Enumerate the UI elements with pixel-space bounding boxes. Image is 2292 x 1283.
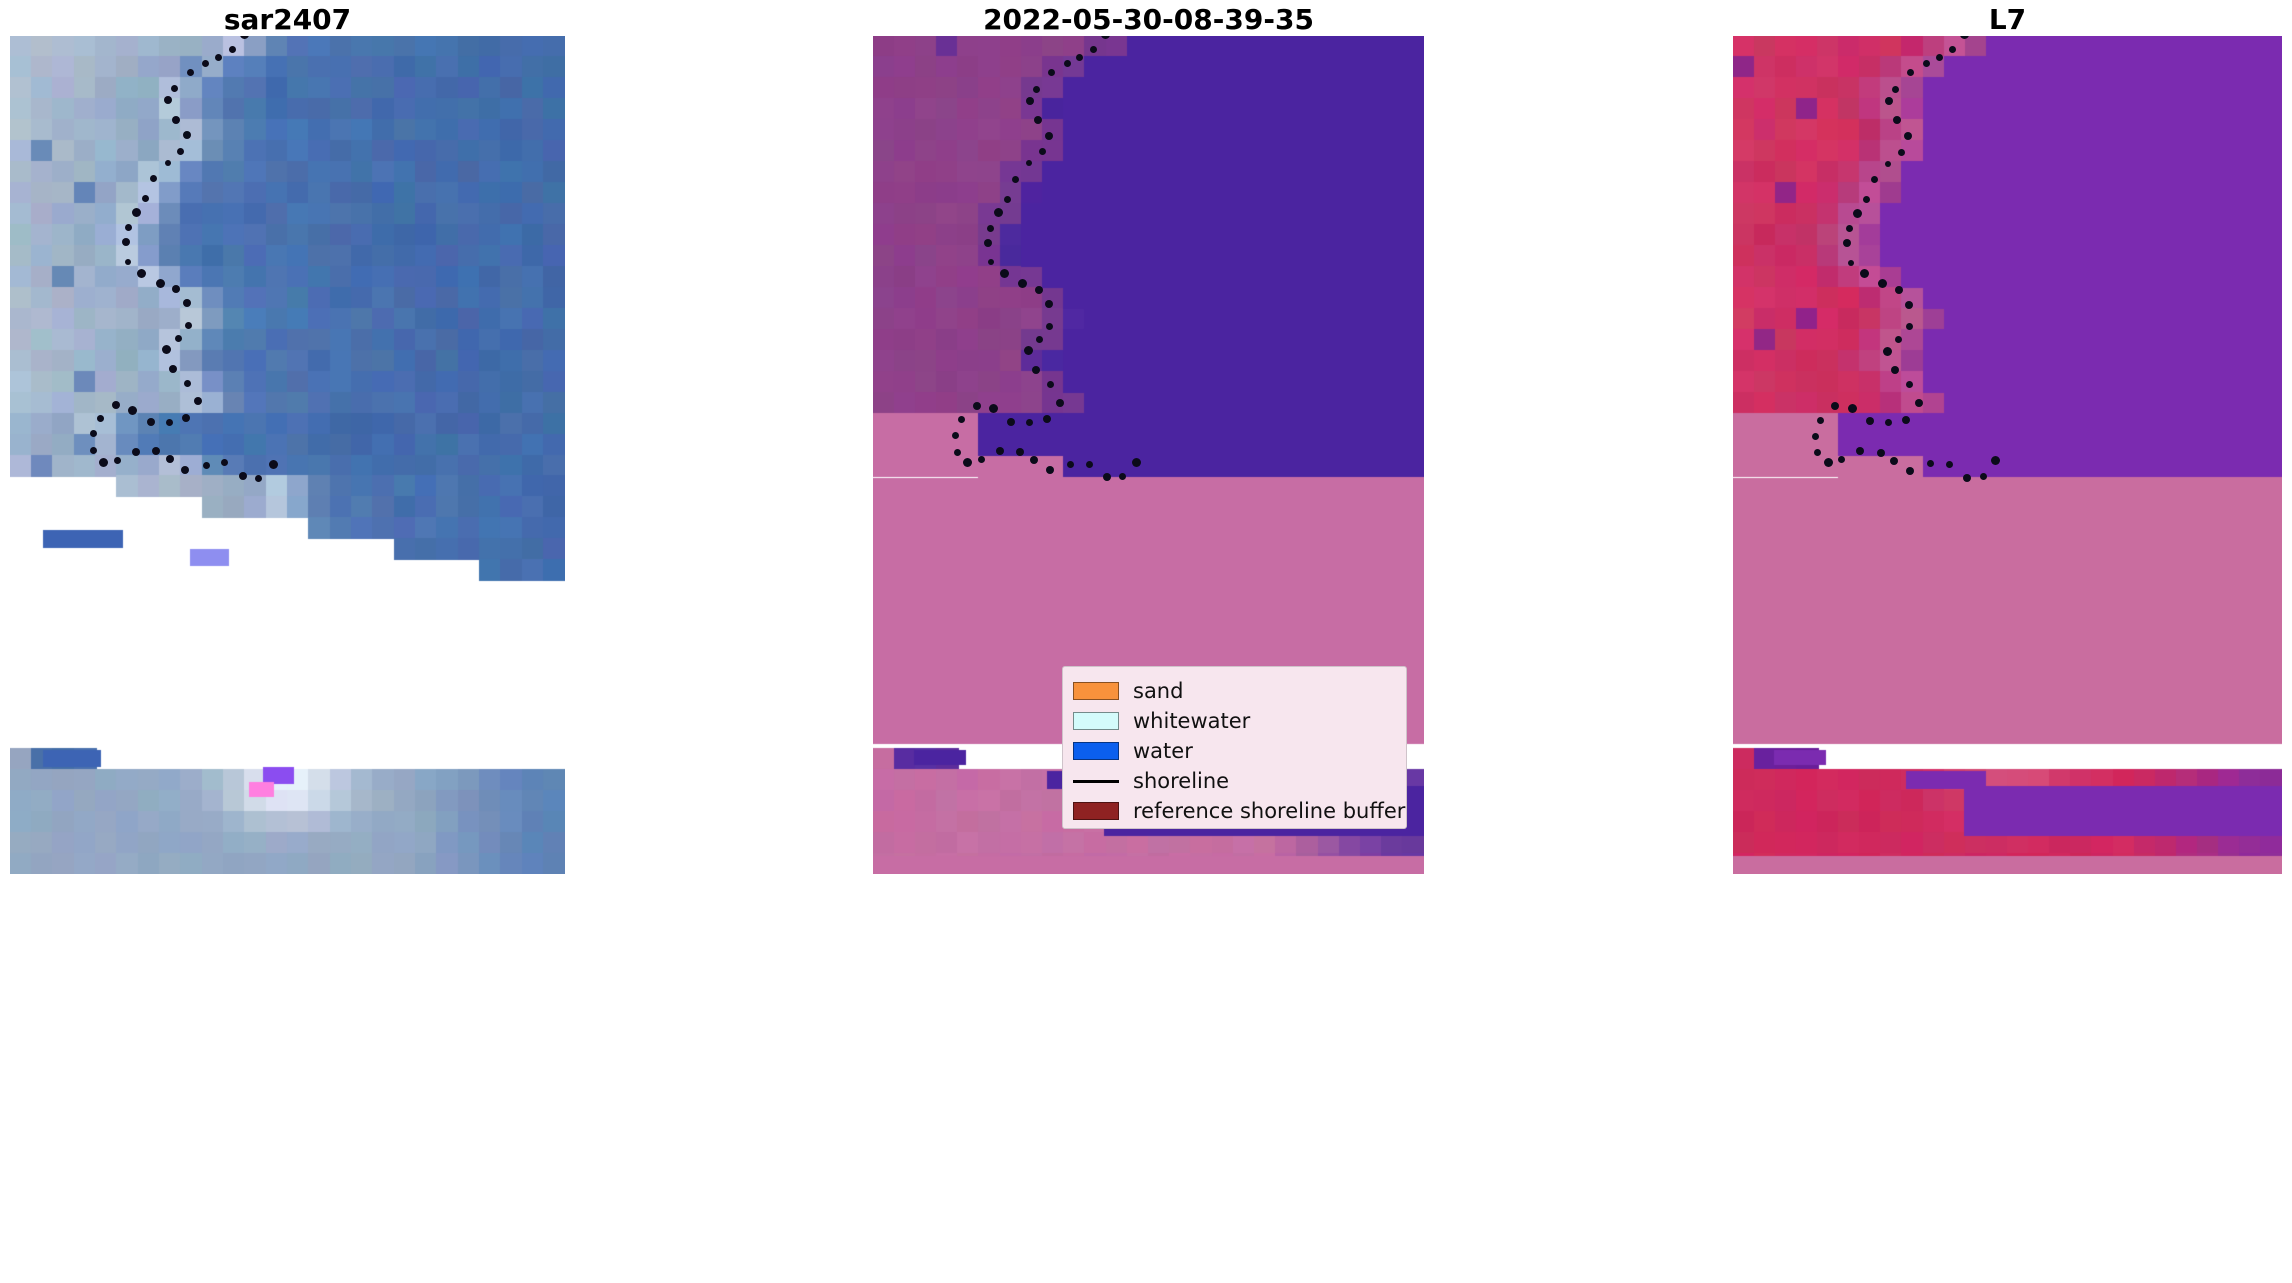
legend-swatch-whitewater [1073,712,1119,730]
figure-canvas: sar2407 2022-05-30-08-39-35 L7 sand whit… [0,0,2292,1283]
legend[interactable]: sand whitewater water shoreline referenc… [1062,666,1407,829]
legend-label-whitewater: whitewater [1133,711,1250,732]
legend-label-shoreline: shoreline [1133,771,1229,792]
legend-swatch-reference-shoreline-buffer [1073,802,1119,820]
legend-swatch-water [1073,742,1119,760]
legend-label-reference-shoreline-buffer: reference shoreline buffer [1133,801,1405,822]
panel-title-l7: L7 [1733,4,2282,36]
panel-sar2407[interactable] [10,36,565,874]
legend-item[interactable]: sand [1073,676,1394,706]
l7-raster [1733,36,2282,874]
legend-swatch-shoreline [1073,780,1119,783]
panel-title-sar2407: sar2407 [10,4,565,36]
legend-item[interactable]: shoreline [1073,766,1394,796]
legend-item[interactable]: water [1073,736,1394,766]
legend-label-sand: sand [1133,681,1183,702]
legend-item[interactable]: whitewater [1073,706,1394,736]
panel-l7[interactable] [1733,36,2282,874]
legend-item[interactable]: reference shoreline buffer [1073,796,1394,826]
legend-swatch-sand [1073,682,1119,700]
legend-label-water: water [1133,741,1193,762]
sar2407-raster [10,36,565,874]
panel-title-classified: 2022-05-30-08-39-35 [873,4,1424,36]
